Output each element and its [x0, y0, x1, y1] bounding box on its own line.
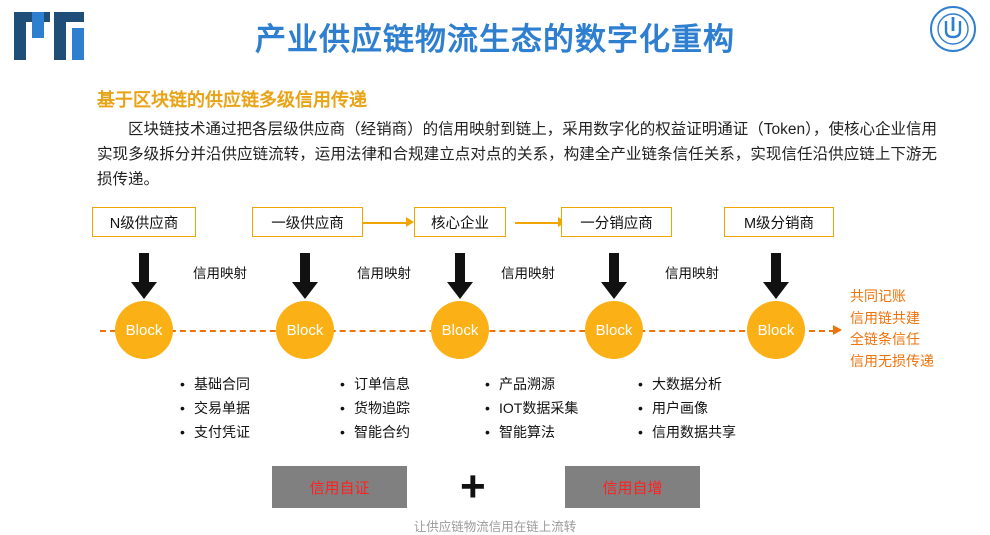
block-circle-1[interactable]: Block	[276, 301, 334, 359]
node-label: 核心企业	[431, 212, 489, 233]
section-heading: 基于区块链的供应链多级信用传递	[97, 86, 367, 112]
bullet-dot-icon: •	[180, 372, 194, 396]
connector-line-1	[363, 222, 408, 224]
list-item: •基础合同	[180, 372, 250, 396]
bullet-dot-icon: •	[638, 420, 652, 444]
bullet-dot-icon: •	[485, 396, 499, 420]
bullet-dot-icon: •	[340, 396, 354, 420]
bullet-dot-icon: •	[340, 372, 354, 396]
list-item: •用户画像	[638, 396, 736, 420]
node-box-2[interactable]: 核心企业	[414, 207, 506, 237]
block-label: Block	[442, 322, 479, 339]
list-item: •智能合约	[340, 420, 410, 444]
page-title: 产业供应链物流生态的数字化重构	[0, 14, 990, 59]
list-item: •产品溯源	[485, 372, 578, 396]
arrow-label-1: 信用映射	[357, 262, 411, 282]
node-box-3[interactable]: 一分销应商	[561, 207, 672, 237]
bullet-dot-icon: •	[485, 420, 499, 444]
bullet-dot-icon: •	[180, 420, 194, 444]
arrow-label-2: 信用映射	[501, 262, 555, 282]
list-item: •订单信息	[340, 372, 410, 396]
bullet-dot-icon: •	[485, 372, 499, 396]
block-circle-4[interactable]: Block	[747, 301, 805, 359]
summary-box-left: 信用自证	[272, 466, 407, 508]
plus-icon: +	[460, 465, 486, 509]
block-circle-0[interactable]: Block	[115, 301, 173, 359]
node-box-1[interactable]: 一级供应商	[252, 207, 363, 237]
list-item: •智能算法	[485, 420, 578, 444]
list-item: •大数据分析	[638, 372, 736, 396]
list-item: 共同记账	[850, 286, 934, 308]
node-box-0[interactable]: N级供应商	[92, 207, 196, 237]
summary-right-label: 信用自增	[602, 477, 662, 498]
bullet-dot-icon: •	[638, 396, 652, 420]
block-label: Block	[126, 322, 163, 339]
summary-box-right: 信用自增	[565, 466, 700, 508]
node-label: N级供应商	[110, 212, 178, 233]
bullet-dot-icon: •	[180, 396, 194, 420]
block-label: Block	[596, 322, 633, 339]
bullet-dot-icon: •	[638, 372, 652, 396]
node-box-4[interactable]: M级分销商	[724, 207, 834, 237]
block-label: Block	[758, 322, 795, 339]
arrow-label-3: 信用映射	[665, 262, 719, 282]
node-label: 一分销应商	[580, 212, 653, 233]
summary-left-label: 信用自证	[309, 477, 369, 498]
list-item: •信用数据共享	[638, 420, 736, 444]
connector-arrow-1	[406, 217, 414, 227]
bullet-column-3: •大数据分析 •用户画像 •信用数据共享	[638, 372, 736, 444]
university-seal-icon	[930, 6, 976, 52]
bullet-column-2: •产品溯源 •IOT数据采集 •智能算法	[485, 372, 578, 444]
connector-line-2	[515, 222, 560, 224]
block-circle-2[interactable]: Block	[431, 301, 489, 359]
block-label: Block	[287, 322, 324, 339]
bullet-column-1: •订单信息 •货物追踪 •智能合约	[340, 372, 410, 444]
list-item: •货物追踪	[340, 396, 410, 420]
list-item: 信用链共建	[850, 308, 934, 330]
benefits-list: 共同记账 信用链共建 全链条信任 信用无损传递	[850, 286, 934, 372]
list-item: •支付凭证	[180, 420, 250, 444]
block-circle-3[interactable]: Block	[585, 301, 643, 359]
bullet-column-0: •基础合同 •交易单据 •支付凭证	[180, 372, 250, 444]
bottom-caption: 让供应链物流信用在链上流转	[0, 516, 990, 535]
blockchain-chain-arrow-icon	[833, 325, 842, 335]
list-item: 信用无损传递	[850, 351, 934, 373]
arrow-label-0: 信用映射	[193, 262, 247, 282]
intro-paragraph: 区块链技术通过把各层级供应商（经销商）的信用映射到链上，采用数字化的权益证明通证…	[97, 117, 937, 192]
bullet-dot-icon: •	[340, 420, 354, 444]
node-label: 一级供应商	[271, 212, 344, 233]
list-item: •交易单据	[180, 396, 250, 420]
list-item: 全链条信任	[850, 329, 934, 351]
list-item: •IOT数据采集	[485, 396, 578, 420]
node-label: M级分销商	[744, 212, 814, 233]
